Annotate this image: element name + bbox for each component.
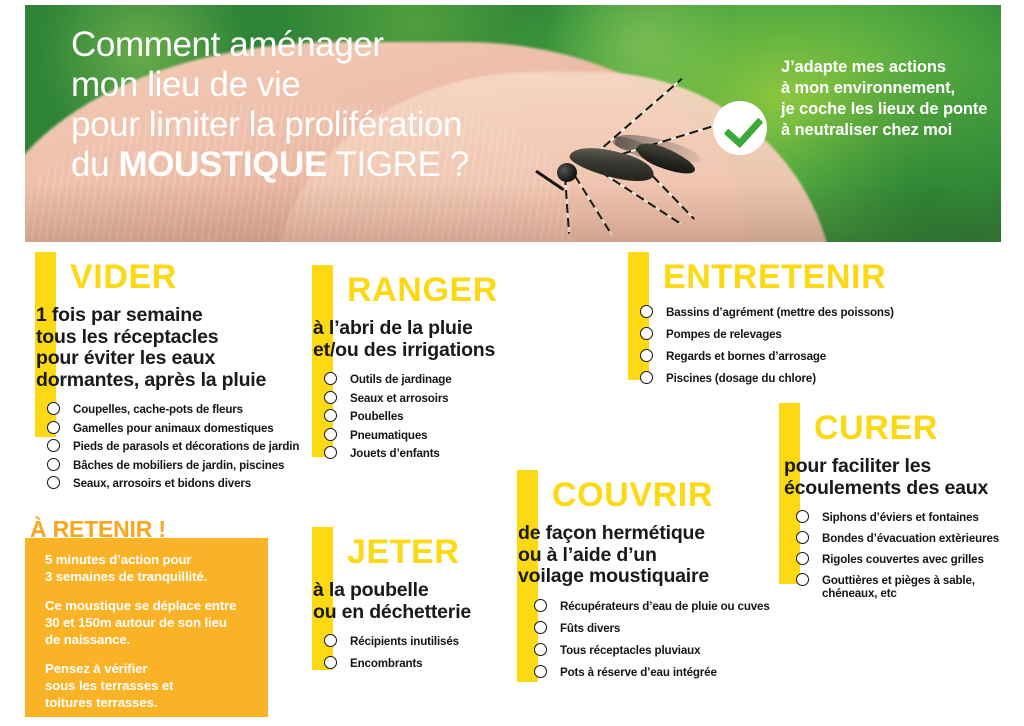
subtitle-line: voilage moustiquaire <box>518 566 777 588</box>
checkbox-circle-icon[interactable] <box>796 573 809 586</box>
subtitle-line: et/ou des irrigations <box>313 340 552 362</box>
recall-paragraph: Ce moustique se déplace entre30 et 150m … <box>45 597 254 648</box>
section-body-entretenir: ENTRETENIR Bassins d’agrément (mettre de… <box>628 252 928 391</box>
checklist-item[interactable]: Rigoles couvertes avec grilles <box>796 553 1024 566</box>
checklist-item[interactable]: Regards et bornes d’arrosage <box>640 350 928 363</box>
title-keyword: MOUSTIQUE <box>118 145 326 184</box>
checklist-label: Outils de jardinage <box>350 373 452 386</box>
checklist-label: Fûts divers <box>560 622 620 635</box>
checkbox-circle-icon[interactable] <box>47 421 60 434</box>
recall-box: 5 minutes d’action pour3 semaines de tra… <box>25 538 268 717</box>
checklist-item[interactable]: Encombrants <box>324 657 537 670</box>
checklist-item[interactable]: Pompes de relevages <box>640 328 928 341</box>
checklist-label: Gamelles pour animaux domestiques <box>73 422 274 435</box>
checklist-item[interactable]: Récupérateurs d’eau de pluie ou cuves <box>534 600 777 613</box>
checkbox-circle-icon[interactable] <box>324 409 337 422</box>
checkbox-circle-icon[interactable] <box>47 458 60 471</box>
section-body-couvrir: COUVRIR de façon hermétique ou à l’aide … <box>517 470 777 684</box>
checklist-item[interactable]: Gouttières et pièges à sable,chéneaux, e… <box>796 574 1024 600</box>
badge-line-3: je coche les lieux de ponte <box>781 99 1001 120</box>
recall-content: 5 minutes d’action pour3 semaines de tra… <box>25 538 268 711</box>
checklist-label: Bondes d’évacuation extèrieures <box>822 532 999 545</box>
section-kicker-vider: VIDER <box>70 252 315 294</box>
checkbox-circle-icon[interactable] <box>47 402 60 415</box>
checklist-label: Pieds de parasols et décorations de jard… <box>73 440 299 453</box>
checklist-item[interactable]: Outils de jardinage <box>324 373 552 386</box>
section-subtitle-ranger: à l’abri de la pluie et/ou des irrigatio… <box>313 318 552 361</box>
checklist-label: Encombrants <box>350 657 422 670</box>
checklist-label: Seaux, arrosoirs et bidons divers <box>73 477 251 490</box>
photo-bottom-shadow <box>25 182 1001 242</box>
checklist-item[interactable]: Bâches de mobiliers de jardin, piscines <box>47 459 315 472</box>
checkbox-circle-icon[interactable] <box>640 371 653 384</box>
checklist-curer: Siphons d’éviers et fontaines Bondes d’é… <box>796 511 1024 600</box>
check-mark-glyph <box>724 108 764 149</box>
checklist-item[interactable]: Fûts divers <box>534 622 777 635</box>
checklist-label: Seaux et arrosoirs <box>350 392 448 405</box>
section-jeter: JETER à la poubelle ou en déchetterie Ré… <box>312 527 537 672</box>
badge-line-2: à mon environnement, <box>781 78 1001 99</box>
subtitle-line: de façon hermétique <box>518 523 777 545</box>
checklist-label: Rigoles couvertes avec grilles <box>822 553 984 566</box>
checkbox-circle-icon[interactable] <box>324 428 337 441</box>
checkbox-circle-icon[interactable] <box>796 510 809 523</box>
subtitle-line: à la poubelle <box>313 580 537 602</box>
subtitle-line: ou à l’aide d’un <box>518 545 777 567</box>
checklist-item[interactable]: Pieds de parasols et décorations de jard… <box>47 440 315 453</box>
title-line-2: mon lieu de vie <box>71 65 591 105</box>
checklist-couvrir: Récupérateurs d’eau de pluie ou cuves Fû… <box>534 600 777 679</box>
checklist-label: Bassins d’agrément (mettre des poissons) <box>666 306 894 319</box>
subtitle-line: ou en déchetterie <box>313 602 537 624</box>
section-kicker-curer: CURER <box>814 403 1024 445</box>
checklist-item[interactable]: Pneumatiques <box>324 429 552 442</box>
badge-line-1: J’adapte mes actions <box>781 57 1001 78</box>
checklist-item[interactable]: Seaux, arrosoirs et bidons divers <box>47 477 315 490</box>
checklist-item[interactable]: Poubelles <box>324 410 552 423</box>
section-kicker-jeter: JETER <box>347 527 537 569</box>
badge-text: J’adapte mes actions à mon environnement… <box>781 57 1001 141</box>
checklist-ranger: Outils de jardinage Seaux et arrosoirs P… <box>324 373 552 460</box>
section-subtitle-vider: 1 fois par semaine tous les réceptacles … <box>36 305 315 391</box>
section-body-vider: VIDER 1 fois par semaine tous les récept… <box>35 252 315 496</box>
checklist-label: Pompes de relevages <box>666 328 782 341</box>
checkbox-circle-icon[interactable] <box>324 391 337 404</box>
checklist-item[interactable]: Bassins d’agrément (mettre des poissons) <box>640 306 928 319</box>
badge-line-4: à neutraliser chez moi <box>781 120 1001 141</box>
checkbox-circle-icon[interactable] <box>796 552 809 565</box>
instruction-badge: J’adapte mes actions à mon environnement… <box>713 93 1001 175</box>
checklist-label: Coupelles, cache-pots de fleurs <box>73 403 243 416</box>
checklist-label: Poubelles <box>350 410 403 423</box>
checklist-label: Pneumatiques <box>350 429 427 442</box>
checklist-item[interactable]: Jouets d’enfants <box>324 447 552 460</box>
hero-photo: Comment aménager mon lieu de vie pour li… <box>25 5 1001 242</box>
checklist-label: Siphons d’éviers et fontaines <box>822 511 979 524</box>
checklist-entretenir: Bassins d’agrément (mettre des poissons)… <box>640 306 928 385</box>
checkbox-circle-icon[interactable] <box>47 439 60 452</box>
section-couvrir: COUVRIR de façon hermétique ou à l’aide … <box>517 470 777 685</box>
checklist-label: Jouets d’enfants <box>350 447 440 460</box>
checkbox-circle-icon[interactable] <box>324 372 337 385</box>
checkbox-circle-icon[interactable] <box>324 446 337 459</box>
checklist-item[interactable]: Piscines (dosage du chlore) <box>640 372 928 385</box>
checklist-item[interactable]: Tous réceptacles pluviaux <box>534 644 777 657</box>
recall-paragraph: 5 minutes d’action pour3 semaines de tra… <box>45 551 254 585</box>
checkbox-circle-icon[interactable] <box>796 531 809 544</box>
checklist-item[interactable]: Pots à réserve d’eau intégrée <box>534 666 777 679</box>
title-line-3: pour limiter la prolifération <box>71 105 591 145</box>
recall-panel: À RETENIR ! 5 minutes d’action pour3 sem… <box>25 517 268 717</box>
checkbox-circle-icon[interactable] <box>640 349 653 362</box>
checklist-label: Regards et bornes d’arrosage <box>666 350 826 363</box>
section-kicker-entretenir: ENTRETENIR <box>663 252 928 294</box>
title-line-4: du MOUSTIQUE TIGRE ? <box>71 145 591 185</box>
checklist-label: Pots à réserve d’eau intégrée <box>560 666 717 679</box>
checkbox-circle-icon[interactable] <box>47 476 60 489</box>
subtitle-line: dormantes, après la pluie <box>36 370 315 392</box>
checklist-item[interactable]: Bondes d’évacuation extèrieures <box>796 532 1024 545</box>
section-subtitle-curer: pour faciliter les écoulements des eaux <box>784 456 1024 499</box>
section-body-ranger: RANGER à l’abri de la pluie et/ou des ir… <box>312 265 552 466</box>
checkbox-circle-icon[interactable] <box>324 634 337 647</box>
checklist-label: Bâches de mobiliers de jardin, piscines <box>73 459 284 472</box>
checklist-label: Tous réceptacles pluviaux <box>560 644 700 657</box>
section-curer: CURER pour faciliter les écoulements des… <box>779 403 1024 588</box>
subtitle-line: pour faciliter les <box>784 456 1024 478</box>
section-kicker-couvrir: COUVRIR <box>552 470 777 512</box>
subtitle-line: à l’abri de la pluie <box>313 318 552 340</box>
title-line-1: Comment aménager <box>71 25 591 65</box>
section-subtitle-jeter: à la poubelle ou en déchetterie <box>313 580 537 623</box>
section-body-jeter: JETER à la poubelle ou en déchetterie Ré… <box>312 527 537 676</box>
checklist-vider: Coupelles, cache-pots de fleurs Gamelles… <box>47 403 315 490</box>
checkbox-circle-icon[interactable] <box>640 305 653 318</box>
page-title: Comment aménager mon lieu de vie pour li… <box>71 25 591 185</box>
checklist-label: Gouttières et pièges à sable,chéneaux, e… <box>822 574 975 600</box>
checklist-item[interactable]: Récipients inutilisés <box>324 635 537 648</box>
checkbox-circle-icon[interactable] <box>324 656 337 669</box>
checklist-item[interactable]: Coupelles, cache-pots de fleurs <box>47 403 315 416</box>
subtitle-line: pour éviter les eaux <box>36 348 315 370</box>
subtitle-line: 1 fois par semaine <box>36 305 315 327</box>
title-suffix: TIGRE ? <box>327 145 469 184</box>
section-ranger: RANGER à l’abri de la pluie et/ou des ir… <box>312 265 552 480</box>
subtitle-line: tous les réceptacles <box>36 327 315 349</box>
recall-paragraph: Pensez à vérifiersous les terrasses etto… <box>45 660 254 711</box>
checklist-label: Piscines (dosage du chlore) <box>666 372 816 385</box>
section-kicker-ranger: RANGER <box>347 265 552 307</box>
checklist-item[interactable]: Seaux et arrosoirs <box>324 392 552 405</box>
subtitle-line: écoulements des eaux <box>784 478 1024 500</box>
check-circle-icon <box>713 101 767 155</box>
checkbox-circle-icon[interactable] <box>640 327 653 340</box>
checklist-item[interactable]: Siphons d’éviers et fontaines <box>796 511 1024 524</box>
checklist-jeter: Récipients inutilisés Encombrants <box>324 635 537 670</box>
title-prefix: du <box>71 145 118 184</box>
checklist-label: Récupérateurs d’eau de pluie ou cuves <box>560 600 770 613</box>
section-vider: VIDER 1 fois par semaine tous les récept… <box>35 252 315 497</box>
section-subtitle-couvrir: de façon hermétique ou à l’aide d’un voi… <box>518 523 777 588</box>
section-body-curer: CURER pour faciliter les écoulements des… <box>779 403 1024 606</box>
checklist-item[interactable]: Gamelles pour animaux domestiques <box>47 422 315 435</box>
checklist-label: Récipients inutilisés <box>350 635 459 648</box>
section-entretenir: ENTRETENIR Bassins d’agrément (mettre de… <box>628 252 928 387</box>
